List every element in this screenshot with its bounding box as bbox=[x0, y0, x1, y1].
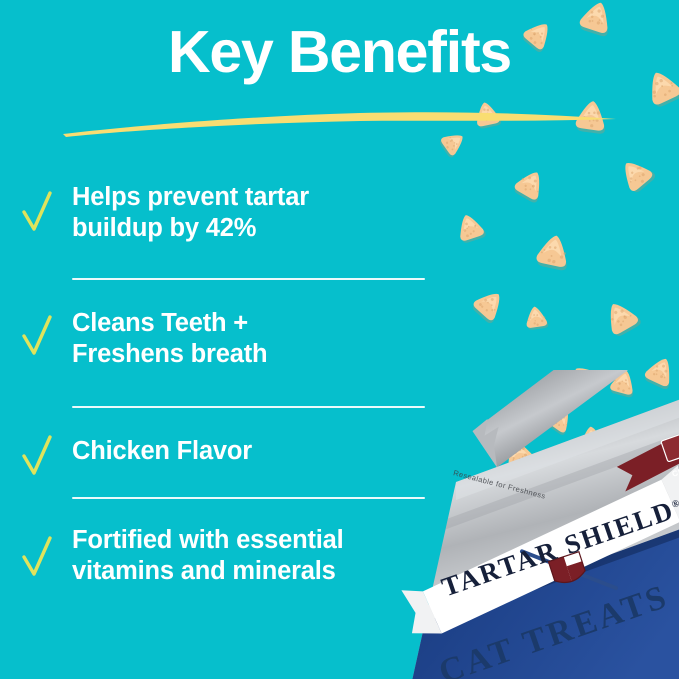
check-icon bbox=[22, 314, 52, 358]
title-underline-swoosh bbox=[60, 100, 620, 140]
benefit-divider bbox=[72, 406, 425, 408]
treat-kibble-icon bbox=[594, 292, 648, 345]
check-icon bbox=[22, 434, 52, 478]
benefit-item-flavor: Chicken Flavor bbox=[0, 436, 460, 467]
benefit-item-teeth: Cleans Teeth + Freshens breath bbox=[0, 308, 460, 370]
page-title: Key Benefits bbox=[0, 22, 679, 84]
check-icon bbox=[22, 190, 52, 234]
treat-kibble-icon bbox=[528, 228, 577, 276]
benefit-divider bbox=[72, 278, 425, 280]
benefit-divider bbox=[72, 497, 425, 499]
treat-kibble-icon bbox=[610, 149, 662, 201]
marketing-image: Key Benefits Helps prevent tartar buildu… bbox=[0, 0, 679, 679]
benefit-item-tartar: Helps prevent tartar buildup by 42% bbox=[0, 182, 460, 244]
benefit-text: Helps prevent tartar buildup by 42% bbox=[72, 182, 460, 244]
check-icon bbox=[22, 535, 52, 579]
treat-kibble-icon bbox=[520, 302, 552, 333]
benefit-text: Cleans Teeth + Freshens breath bbox=[72, 308, 460, 370]
product-package: Resealable for Freshness TARTAR SHIELD® … bbox=[400, 370, 679, 679]
benefit-item-vitamins: Fortified with essential vitamins and mi… bbox=[0, 525, 460, 587]
treat-kibble-icon bbox=[506, 161, 554, 209]
treat-kibble-icon bbox=[464, 280, 514, 330]
benefits-list: Helps prevent tartar buildup by 42% Clea… bbox=[0, 176, 460, 587]
